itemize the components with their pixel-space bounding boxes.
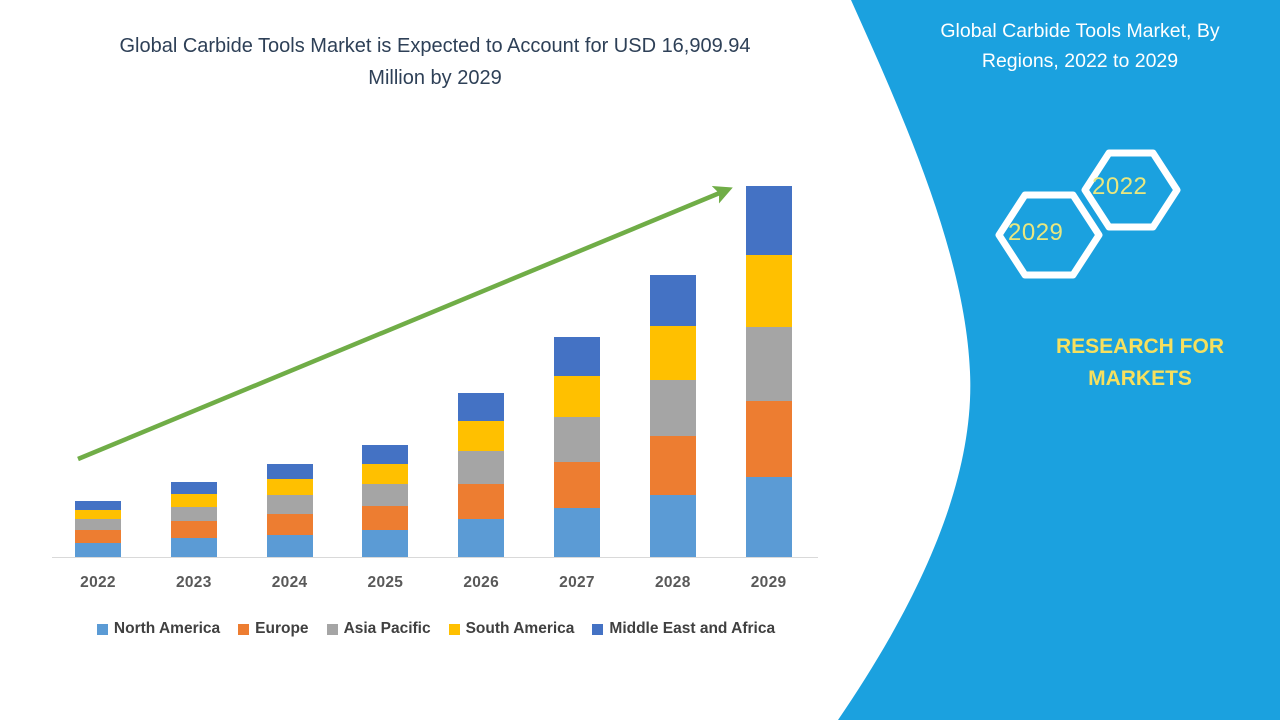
bar-segment-north-america-2023 — [171, 538, 217, 558]
bar-segment-middle-east-and-africa-2027 — [554, 337, 600, 376]
x-axis-label-2025: 2025 — [362, 574, 408, 592]
bar-segment-middle-east-and-africa-2022 — [75, 501, 121, 510]
bar-column-2022 — [75, 501, 121, 558]
bar-segment-europe-2022 — [75, 530, 121, 542]
bar-segment-asia-pacific-2025 — [362, 484, 408, 506]
legend-swatch-icon — [327, 624, 338, 635]
legend-swatch-icon — [97, 624, 108, 635]
bar-segment-asia-pacific-2023 — [171, 507, 217, 521]
bar-segment-middle-east-and-africa-2025 — [362, 445, 408, 464]
legend-swatch-icon — [592, 624, 603, 635]
legend-item-south-america[interactable]: South America — [449, 620, 575, 638]
chart-legend: North AmericaEuropeAsia PacificSouth Ame… — [52, 617, 820, 641]
brand-line-1: RESEARCH FOR — [1000, 331, 1280, 363]
legend-label: Europe — [255, 620, 308, 638]
bar-segment-north-america-2026 — [458, 519, 504, 558]
legend-label: Asia Pacific — [344, 620, 431, 638]
x-axis-labels: 20222023202420252026202720282029 — [52, 574, 818, 598]
bar-segment-europe-2025 — [362, 506, 408, 531]
bar-segment-europe-2028 — [650, 436, 696, 495]
bar-segment-europe-2026 — [458, 484, 504, 519]
bar-segment-south-america-2027 — [554, 376, 600, 417]
bar-column-2029 — [746, 186, 792, 558]
legend-swatch-icon — [238, 624, 249, 635]
x-axis-label-2028: 2028 — [650, 574, 696, 592]
x-axis-label-2024: 2024 — [267, 574, 313, 592]
bar-segment-asia-pacific-2026 — [458, 451, 504, 484]
bar-segment-middle-east-and-africa-2024 — [267, 464, 313, 479]
bar-segment-north-america-2029 — [746, 477, 792, 558]
legend-item-europe[interactable]: Europe — [238, 620, 308, 638]
bar-segment-europe-2023 — [171, 521, 217, 538]
bar-segment-middle-east-and-africa-2023 — [171, 482, 217, 494]
bar-segment-asia-pacific-2028 — [650, 380, 696, 436]
bar-segment-north-america-2025 — [362, 530, 408, 558]
x-axis-label-2027: 2027 — [554, 574, 600, 592]
bar-column-2024 — [267, 464, 313, 558]
bar-segment-south-america-2029 — [746, 255, 792, 327]
bar-segment-middle-east-and-africa-2028 — [650, 275, 696, 326]
bar-segment-north-america-2022 — [75, 543, 121, 558]
legend-swatch-icon — [449, 624, 460, 635]
bar-segment-south-america-2024 — [267, 479, 313, 496]
legend-label: North America — [114, 620, 220, 638]
bar-segment-south-america-2028 — [650, 326, 696, 380]
stacked-bar-chart-plot — [52, 160, 818, 558]
infographic-slide: Global Carbide Tools Market, By Regions,… — [0, 0, 1280, 720]
x-axis-label-2023: 2023 — [171, 574, 217, 592]
bar-column-2027 — [554, 337, 600, 558]
hexagon-2029-label: 2029 — [1008, 219, 1063, 247]
bar-segment-asia-pacific-2024 — [267, 495, 313, 514]
bar-segment-south-america-2022 — [75, 510, 121, 520]
bar-column-2028 — [650, 275, 696, 558]
panel-title: Global Carbide Tools Market, By Regions,… — [900, 16, 1260, 76]
bar-segment-middle-east-and-africa-2026 — [458, 393, 504, 421]
bar-segment-asia-pacific-2029 — [746, 327, 792, 401]
chart-baseline — [52, 557, 818, 558]
brand-name: RESEARCH FOR MARKETS — [1000, 331, 1280, 395]
x-axis-label-2026: 2026 — [458, 574, 504, 592]
hexagon-2022-label: 2022 — [1092, 173, 1147, 201]
legend-label: Middle East and Africa — [609, 620, 775, 638]
x-axis-label-2022: 2022 — [75, 574, 121, 592]
bar-segment-middle-east-and-africa-2029 — [746, 186, 792, 255]
legend-item-north-america[interactable]: North America — [97, 620, 220, 638]
brand-line-2: MARKETS — [1000, 363, 1280, 395]
bar-segment-north-america-2027 — [554, 508, 600, 558]
bar-segment-north-america-2024 — [267, 535, 313, 558]
bar-segment-asia-pacific-2027 — [554, 417, 600, 461]
bar-segment-south-america-2026 — [458, 421, 504, 451]
bar-segment-asia-pacific-2022 — [75, 519, 121, 530]
bar-segment-south-america-2023 — [171, 494, 217, 507]
bar-segment-europe-2029 — [746, 401, 792, 477]
x-axis-label-2029: 2029 — [746, 574, 792, 592]
legend-label: South America — [466, 620, 575, 638]
bar-segment-europe-2027 — [554, 462, 600, 509]
bar-column-2023 — [171, 482, 217, 558]
bar-segment-europe-2024 — [267, 514, 313, 535]
hexagon-group: 2029 2022 — [985, 145, 1185, 285]
bar-segment-south-america-2025 — [362, 464, 408, 484]
chart-title: Global Carbide Tools Market is Expected … — [90, 30, 780, 94]
legend-item-middle-east-and-africa[interactable]: Middle East and Africa — [592, 620, 775, 638]
bar-column-2026 — [458, 393, 504, 558]
bar-segment-north-america-2028 — [650, 495, 696, 558]
legend-item-asia-pacific[interactable]: Asia Pacific — [327, 620, 431, 638]
bar-column-2025 — [362, 445, 408, 558]
